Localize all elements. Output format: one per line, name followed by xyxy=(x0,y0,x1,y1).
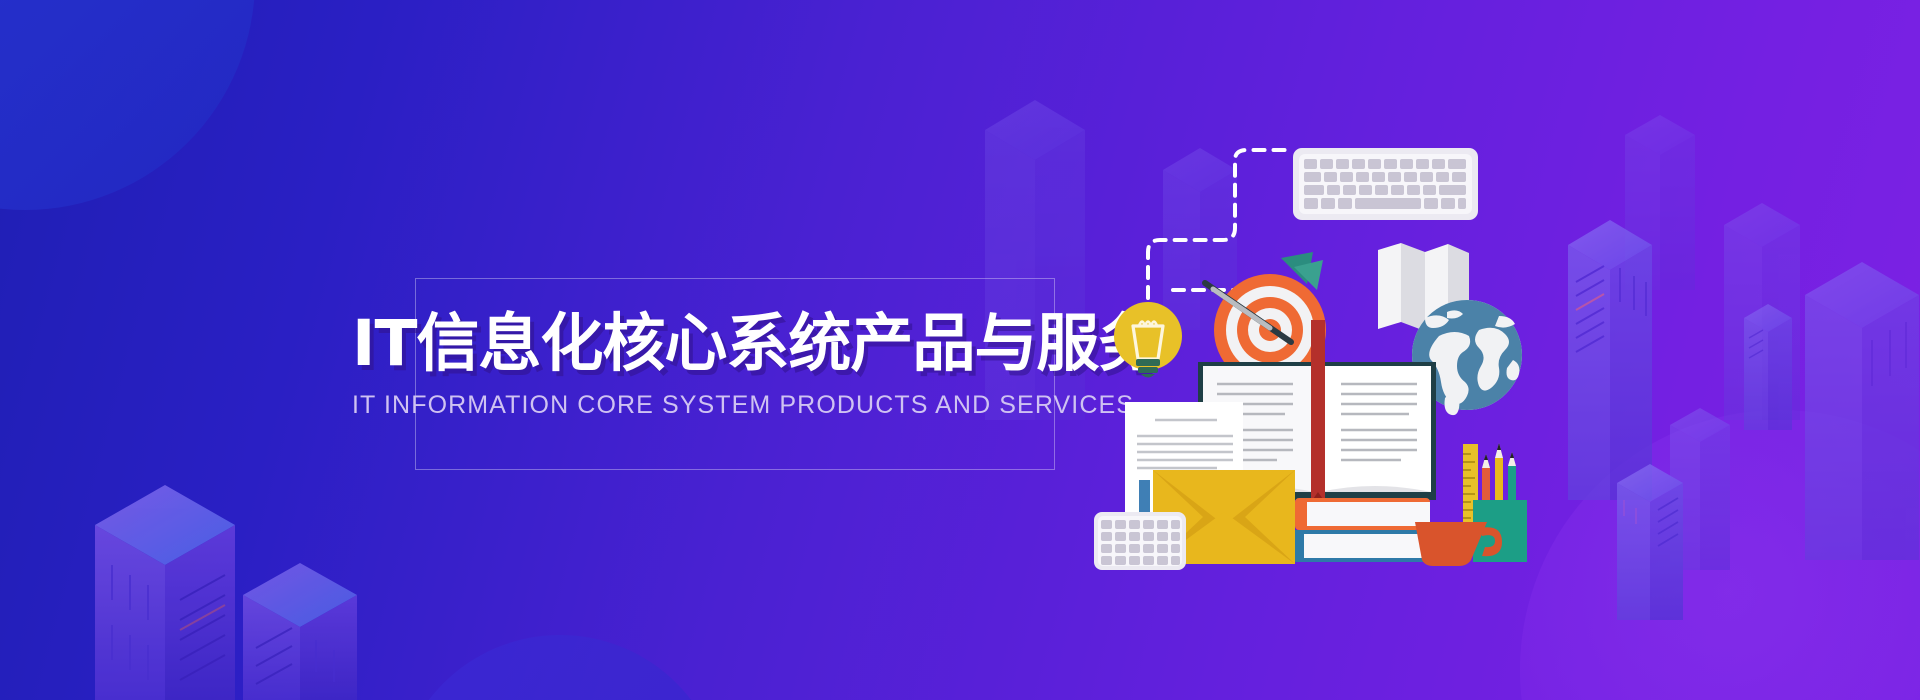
tower-r-6 xyxy=(1617,464,1683,620)
tower-r-1 xyxy=(1568,220,1652,500)
stacked-book-blue-icon xyxy=(1291,530,1430,562)
tower-bl-2 xyxy=(243,563,357,700)
hero-banner: IT信息化核心系统产品与服务 IT INFORMATION CORE SYSTE… xyxy=(0,0,1920,700)
hero-text-block: IT信息化核心系统产品与服务 IT INFORMATION CORE SYSTE… xyxy=(352,312,1142,420)
tower-bl-1 xyxy=(95,485,235,700)
page-title: IT信息化核心系统产品与服务 xyxy=(352,312,1142,375)
lightbulb-icon xyxy=(1114,302,1182,378)
it-education-workspace-illustration xyxy=(1095,140,1555,570)
keyboard-top-icon xyxy=(1293,148,1478,220)
keyboard-left-icon xyxy=(1094,512,1186,570)
tower-r-3 xyxy=(1744,304,1792,430)
page-subtitle: IT INFORMATION CORE SYSTEM PRODUCTS AND … xyxy=(352,391,1142,420)
tower-r-4 xyxy=(1805,262,1919,560)
stacked-book-orange-icon xyxy=(1295,498,1430,530)
